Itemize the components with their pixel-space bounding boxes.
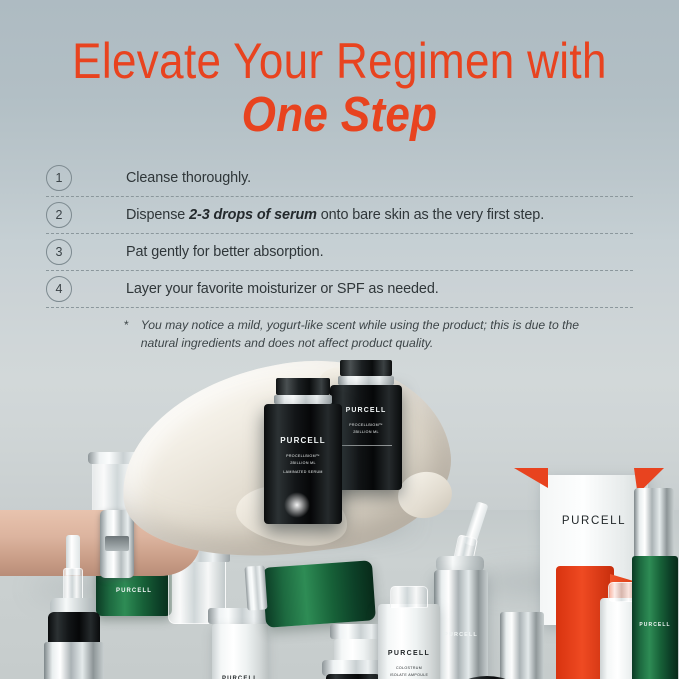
headline-line-1: Elevate Your Regimen with <box>41 36 639 87</box>
step-text: Dispense 2-3 drops of serum onto bare sk… <box>126 207 544 223</box>
step-text-main: Cleanse thoroughly. <box>126 170 251 186</box>
held-bottle-right-collar <box>338 376 394 385</box>
dropper-bottle-left-body <box>44 642 104 679</box>
green-bottle-lying-cap <box>244 565 267 610</box>
held-bottle-left-sub-1: PROCELLBIOM™ <box>264 454 342 460</box>
step-text-main: Dispense <box>126 207 189 223</box>
step-row: 3 Pat gently for better absorption. <box>46 234 633 271</box>
wristwatch <box>100 510 134 578</box>
step-text: Layer your favorite moisturizer or SPF a… <box>126 281 439 297</box>
product-instruction-poster: Elevate Your Regimen with One Step 1 Cle… <box>0 0 679 679</box>
ampoule-bottle: PURCELL COLOSTRUM ISOLATE AMPOULE WITH P… <box>378 604 440 679</box>
step-number-badge: 2 <box>46 202 72 228</box>
right-bottle-neck <box>634 488 674 560</box>
held-bottle-left-sub-2: 2BILLION ML <box>264 461 342 467</box>
white-bottle-left: PURCELL <box>212 624 268 679</box>
right-green-bottle: PURCELL <box>632 556 678 679</box>
page-title: Elevate Your Regimen with One Step <box>0 36 679 141</box>
held-bottle-left-sub-3: LAMINATED SERUM <box>264 470 342 476</box>
ampoule-bottle-neck <box>390 586 428 608</box>
box-red-flap-left <box>514 468 548 488</box>
held-bottle-left-collar <box>274 395 332 404</box>
step-text-tail: onto bare skin as the very first step. <box>317 207 544 223</box>
footnote-marker: * <box>124 316 129 352</box>
held-bottle-right-cap <box>340 360 392 376</box>
step-row: 2 Dispense 2-3 drops of serum onto bare … <box>46 197 633 234</box>
held-bottle-left-cap <box>276 378 330 395</box>
step-row: 4 Layer your favorite moisturizer or SPF… <box>46 271 633 308</box>
ampoule-bottle-brand: PURCELL <box>378 650 440 657</box>
held-bottle-left-brand: PURCELL <box>264 436 342 445</box>
step-text: Pat gently for better absorption. <box>126 244 324 260</box>
ampoule-bottle-sub-2: ISOLATE AMPOULE <box>378 673 440 679</box>
far-right-bottle <box>500 612 544 679</box>
step-row: 1 Cleanse thoroughly. <box>46 160 633 197</box>
footnote: * You may notice a mild, yogurt-like sce… <box>124 316 581 352</box>
chrome-bottle: PURCELL <box>434 570 488 679</box>
headline-line-2: One Step <box>34 91 645 141</box>
green-bottle-lying <box>262 560 376 628</box>
step-text: Cleanse thoroughly. <box>126 170 251 186</box>
step-list: 1 Cleanse thoroughly. 2 Dispense 2-3 dro… <box>46 160 633 308</box>
step-number-badge: 4 <box>46 276 72 302</box>
black-bottle-bottom <box>326 674 380 679</box>
held-bottle-left: PURCELL PROCELLBIOM™ 2BILLION ML LAMINAT… <box>264 404 342 524</box>
step-number-badge: 1 <box>46 165 72 191</box>
specular-highlight <box>284 492 310 518</box>
product-photograph: PURCELL PURCELL PURCELL PROCELL <box>0 360 679 679</box>
step-text-main: Pat gently for better absorption. <box>126 244 324 260</box>
step-text-main: Layer your favorite moisturizer or SPF a… <box>126 281 439 297</box>
white-bottle-left-cap <box>208 608 270 624</box>
step-text-emphasis: 2-3 drops of serum <box>189 207 317 223</box>
step-number-badge: 3 <box>46 239 72 265</box>
green-bottle-brand: PURCELL <box>96 588 172 594</box>
right-bottle-brand: PURCELL <box>632 622 678 628</box>
footnote-text: You may notice a mild, yogurt-like scent… <box>141 316 581 352</box>
chrome-bottle-brand: PURCELL <box>434 632 488 638</box>
product-box-brand: PURCELL <box>540 515 648 527</box>
ampoule-bottle-sub-1: COLOSTRUM <box>378 666 440 672</box>
